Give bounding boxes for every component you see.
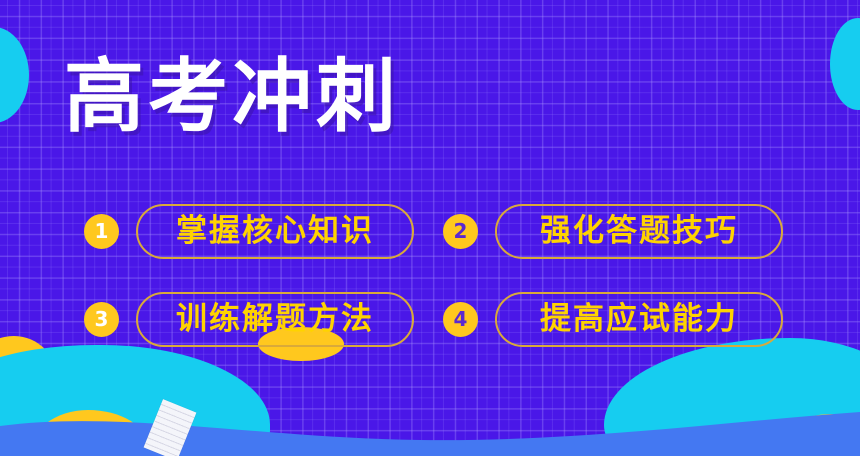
feature-list: 1 掌握核心知识 2 强化答题技巧 3 训练解题方法 4 — [0, 198, 860, 352]
promo-banner: 高考冲刺 1 掌握核心知识 2 强化答题技巧 3 训练解题方法 — [0, 0, 860, 456]
wave-bottom-blue-decoration — [0, 400, 860, 456]
feature-label-4: 提高应试能力 — [540, 304, 738, 335]
feature-number-badge-4: 4 — [443, 302, 478, 337]
feature-number-badge-2: 2 — [443, 214, 478, 249]
feature-pill-1[interactable]: 掌握核心知识 — [136, 204, 414, 259]
feature-number-badge-3: 3 — [84, 302, 119, 337]
feature-label-2: 强化答题技巧 — [540, 216, 738, 247]
feature-pill-4[interactable]: 提高应试能力 — [495, 292, 783, 347]
feature-pill-2[interactable]: 强化答题技巧 — [495, 204, 783, 259]
feature-pill-3[interactable]: 训练解题方法 — [136, 292, 414, 347]
feature-item-1[interactable]: 1 掌握核心知识 — [84, 202, 414, 260]
page-title: 高考冲刺 — [64, 57, 400, 137]
feature-number-badge-1: 1 — [84, 214, 119, 249]
feature-item-2[interactable]: 2 强化答题技巧 — [443, 202, 783, 260]
feature-row-1: 1 掌握核心知识 2 强化答题技巧 — [0, 198, 860, 264]
feature-label-1: 掌握核心知识 — [176, 216, 374, 247]
circle-top-left-decoration — [0, 27, 29, 123]
feature-item-3[interactable]: 3 训练解题方法 — [84, 290, 414, 348]
feature-item-4[interactable]: 4 提高应试能力 — [443, 290, 783, 348]
circle-top-right-decoration — [830, 18, 860, 110]
feature-label-3: 训练解题方法 — [176, 304, 374, 335]
feature-row-2: 3 训练解题方法 4 提高应试能力 — [0, 286, 860, 352]
